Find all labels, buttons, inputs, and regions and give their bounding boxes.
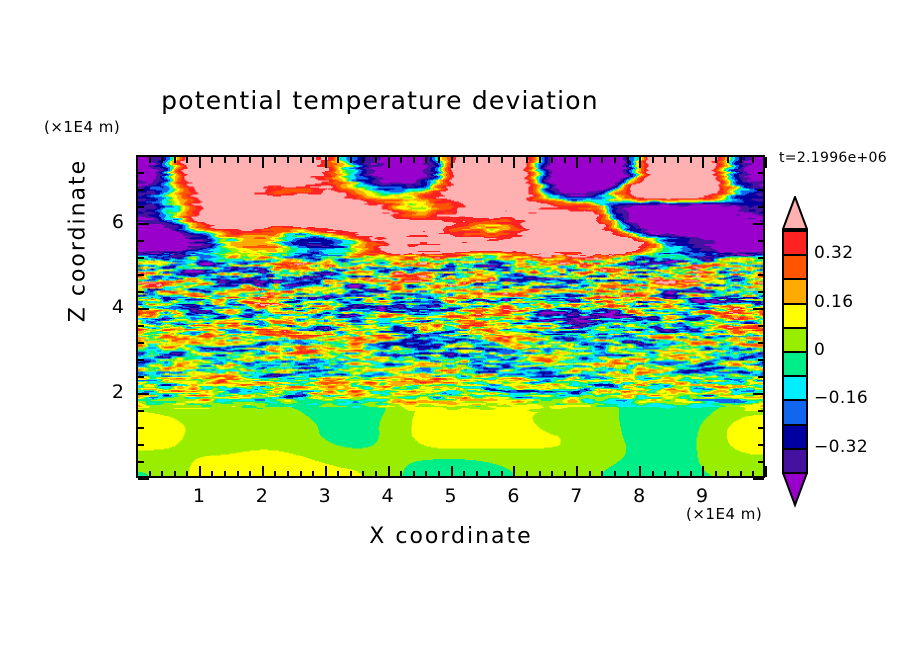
tick-mark [262, 157, 264, 168]
tick-mark [752, 157, 754, 163]
tick-mark [312, 157, 314, 163]
tick-mark [312, 471, 314, 477]
tick-mark [287, 471, 289, 477]
tick-mark [161, 471, 163, 477]
colorbar-band [782, 254, 808, 280]
tick-mark [463, 157, 465, 163]
tick-mark [425, 157, 427, 163]
tick-mark [564, 471, 566, 477]
tick-mark [138, 427, 144, 429]
colorbar-band [782, 351, 808, 377]
tick-mark [174, 157, 176, 163]
tick-mark [690, 471, 692, 477]
x-tick-label: 3 [305, 485, 345, 507]
tick-mark [337, 157, 339, 163]
colorbar [782, 196, 808, 506]
tick-mark [237, 471, 239, 477]
tick-mark [758, 410, 764, 412]
tick-mark [451, 157, 453, 168]
tick-mark [758, 172, 764, 174]
tick-mark [149, 471, 151, 477]
tick-mark [274, 157, 276, 163]
tick-mark [400, 471, 402, 477]
tick-mark [513, 466, 515, 477]
x-tick-label: 2 [242, 485, 282, 507]
tick-mark [138, 325, 144, 327]
tick-mark [138, 410, 144, 412]
tick-mark [237, 157, 239, 163]
tick-mark [138, 308, 149, 310]
tick-mark [740, 157, 742, 163]
tick-mark [262, 466, 264, 477]
tick-mark [758, 291, 764, 293]
tick-mark [758, 376, 764, 378]
tick-mark [753, 223, 764, 225]
tick-mark [589, 471, 591, 477]
x-tick-label: 8 [619, 485, 659, 507]
tick-mark [350, 157, 352, 163]
tick-mark [375, 471, 377, 477]
tick-mark [438, 471, 440, 477]
x-tick-label: 9 [682, 485, 722, 507]
x-tick-label: 7 [556, 485, 596, 507]
tick-mark [576, 466, 578, 477]
tick-mark [388, 157, 390, 168]
colorbar-tick-label: −0.32 [814, 437, 868, 457]
contour-plot-area [136, 155, 765, 478]
tick-mark [199, 466, 201, 477]
tick-mark [488, 157, 490, 163]
tick-mark [702, 466, 704, 477]
tick-mark [740, 471, 742, 477]
tick-mark [758, 359, 764, 361]
tick-mark [138, 257, 144, 259]
tick-mark [758, 427, 764, 429]
tick-mark [174, 471, 176, 477]
colorbar-band [782, 278, 808, 304]
tick-mark [614, 157, 616, 163]
colorbar-tick-label: −0.16 [814, 388, 868, 408]
tick-mark [287, 157, 289, 163]
tick-mark [753, 478, 764, 480]
tick-mark [211, 471, 213, 477]
tick-mark [753, 393, 764, 395]
temperature-field-canvas [138, 157, 763, 476]
y-axis-label: Z coordinate [66, 141, 91, 341]
tick-mark [138, 189, 144, 191]
x-axis-label: X coordinate [136, 524, 766, 549]
tick-mark [758, 325, 764, 327]
tick-mark [758, 274, 764, 276]
tick-mark [149, 157, 151, 163]
tick-mark [627, 157, 629, 163]
tick-mark [224, 471, 226, 477]
tick-mark [211, 157, 213, 163]
tick-mark [249, 471, 251, 477]
tick-mark [526, 157, 528, 163]
tick-mark [488, 471, 490, 477]
tick-mark [627, 471, 629, 477]
colorbar-band [782, 448, 808, 474]
tick-mark [753, 308, 764, 310]
tick-mark [758, 257, 764, 259]
colorbar-band [782, 327, 808, 353]
colorbar-band [782, 303, 808, 329]
tick-mark [690, 157, 692, 163]
tick-mark [526, 471, 528, 477]
tick-mark [501, 471, 503, 477]
tick-mark [161, 157, 163, 163]
tick-mark [362, 157, 364, 163]
x-tick-label: 5 [431, 485, 471, 507]
tick-mark [138, 393, 149, 395]
colorbar-tick-label: 0 [814, 340, 825, 360]
tick-mark [362, 471, 364, 477]
tick-mark [677, 471, 679, 477]
tick-mark [138, 461, 144, 463]
tick-mark [758, 155, 764, 157]
tick-mark [765, 157, 767, 168]
tick-mark [186, 157, 188, 163]
tick-mark [138, 223, 149, 225]
tick-mark [249, 157, 251, 163]
tick-mark [664, 157, 666, 163]
tick-mark [350, 471, 352, 477]
tick-mark [138, 359, 144, 361]
tick-mark [501, 157, 503, 163]
tick-mark [138, 291, 144, 293]
tick-mark [138, 155, 144, 157]
tick-mark [325, 157, 327, 168]
tick-mark [758, 206, 764, 208]
tick-mark [715, 157, 717, 163]
tick-mark [138, 444, 144, 446]
tick-mark [425, 471, 427, 477]
x-tick-label: 1 [179, 485, 219, 507]
tick-mark [388, 466, 390, 477]
tick-mark [413, 157, 415, 163]
tick-mark [664, 471, 666, 477]
tick-mark [274, 471, 276, 477]
tick-mark [758, 461, 764, 463]
tick-mark [758, 240, 764, 242]
tick-mark [677, 157, 679, 163]
tick-mark [601, 471, 603, 477]
tick-mark [702, 157, 704, 168]
tick-mark [451, 466, 453, 477]
x-axis-unit: (×1E4 m) [686, 505, 762, 523]
tick-mark [758, 342, 764, 344]
tick-mark [138, 240, 144, 242]
tick-mark [513, 157, 515, 168]
tick-mark [551, 471, 553, 477]
colorbar-band [782, 399, 808, 425]
tick-mark [199, 157, 201, 168]
tick-mark [138, 376, 144, 378]
tick-mark [539, 471, 541, 477]
tick-mark [639, 466, 641, 477]
tick-mark [400, 157, 402, 163]
tick-mark [727, 157, 729, 163]
x-tick-label: 4 [368, 485, 408, 507]
colorbar-band [782, 375, 808, 401]
colorbar-over-cap-outline [782, 196, 808, 230]
tick-mark [652, 471, 654, 477]
page-title: potential temperature deviation [0, 86, 760, 115]
tick-mark [138, 172, 144, 174]
tick-mark [476, 157, 478, 163]
tick-mark [325, 466, 327, 477]
tick-mark [186, 471, 188, 477]
tick-mark [138, 342, 144, 344]
timestamp-annotation: t=2.1996e+06 [779, 150, 887, 166]
colorbar-band [782, 424, 808, 450]
tick-mark [639, 157, 641, 168]
tick-mark [539, 157, 541, 163]
y-axis-unit: (×1E4 m) [44, 118, 120, 136]
tick-mark [589, 157, 591, 163]
tick-mark [758, 444, 764, 446]
tick-mark [138, 274, 144, 276]
tick-mark [463, 471, 465, 477]
tick-mark [758, 189, 764, 191]
colorbar-band [782, 230, 808, 256]
tick-mark [476, 471, 478, 477]
tick-mark [551, 157, 553, 163]
tick-mark [438, 157, 440, 163]
tick-mark [652, 157, 654, 163]
tick-mark [138, 478, 149, 480]
tick-mark [375, 157, 377, 163]
tick-mark [136, 466, 138, 477]
tick-mark [601, 157, 603, 163]
tick-mark [614, 471, 616, 477]
x-tick-label: 6 [493, 485, 533, 507]
tick-mark [413, 471, 415, 477]
tick-mark [300, 157, 302, 163]
tick-mark [564, 157, 566, 163]
colorbar-tick-label: 0.32 [814, 243, 853, 263]
tick-mark [300, 471, 302, 477]
tick-mark [752, 471, 754, 477]
tick-mark [727, 471, 729, 477]
colorbar-under-cap-outline [782, 472, 808, 508]
tick-mark [136, 157, 138, 168]
tick-mark [224, 157, 226, 163]
colorbar-tick-label: 0.16 [814, 292, 853, 312]
tick-mark [765, 466, 767, 477]
tick-mark [337, 471, 339, 477]
tick-mark [138, 206, 144, 208]
y-tick-label: 2 [84, 381, 124, 403]
tick-mark [715, 471, 717, 477]
tick-mark [576, 157, 578, 168]
